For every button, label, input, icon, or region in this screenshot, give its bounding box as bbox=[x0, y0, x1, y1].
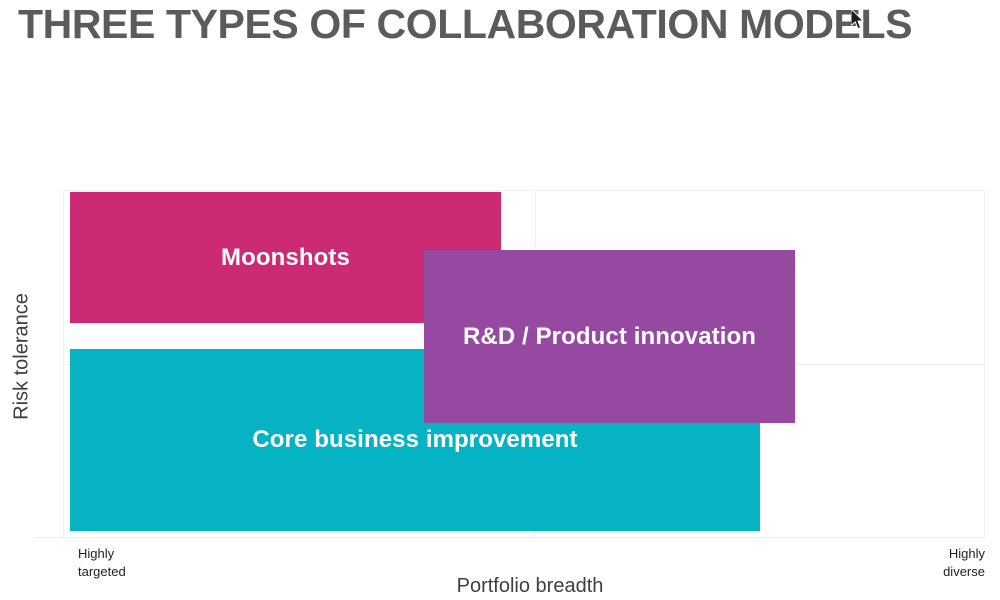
chart-box-label-moonshots: Moonshots bbox=[221, 244, 350, 272]
y-axis-title: Risk tolerance bbox=[11, 282, 34, 432]
gridline-horizontal-top bbox=[63, 190, 985, 191]
x-axis-tick-label-left: Highly targeted bbox=[78, 545, 126, 581]
gridline-vertical-right bbox=[984, 190, 985, 538]
x-axis-tick-label-left-line2: targeted bbox=[78, 563, 126, 581]
axis-baseline bbox=[35, 537, 985, 538]
chart-box-rnd-product-innovation[interactable]: R&D / Product innovation bbox=[424, 250, 795, 423]
collaboration-models-chart: Core business improvement Moonshots R&D … bbox=[0, 0, 1000, 600]
chart-box-label-core-business-improvement: Core business improvement bbox=[252, 426, 577, 454]
gridline-vertical-left bbox=[63, 190, 64, 538]
x-axis-title: Portfolio breadth bbox=[380, 575, 680, 598]
x-axis-tick-label-right: Highly diverse bbox=[880, 545, 985, 581]
x-axis-tick-label-right-line1: Highly bbox=[949, 546, 985, 561]
x-axis-tick-label-right-line2: diverse bbox=[880, 563, 985, 581]
x-axis-tick-label-left-line1: Highly bbox=[78, 546, 114, 561]
chart-box-label-rnd-product-innovation: R&D / Product innovation bbox=[463, 323, 756, 351]
